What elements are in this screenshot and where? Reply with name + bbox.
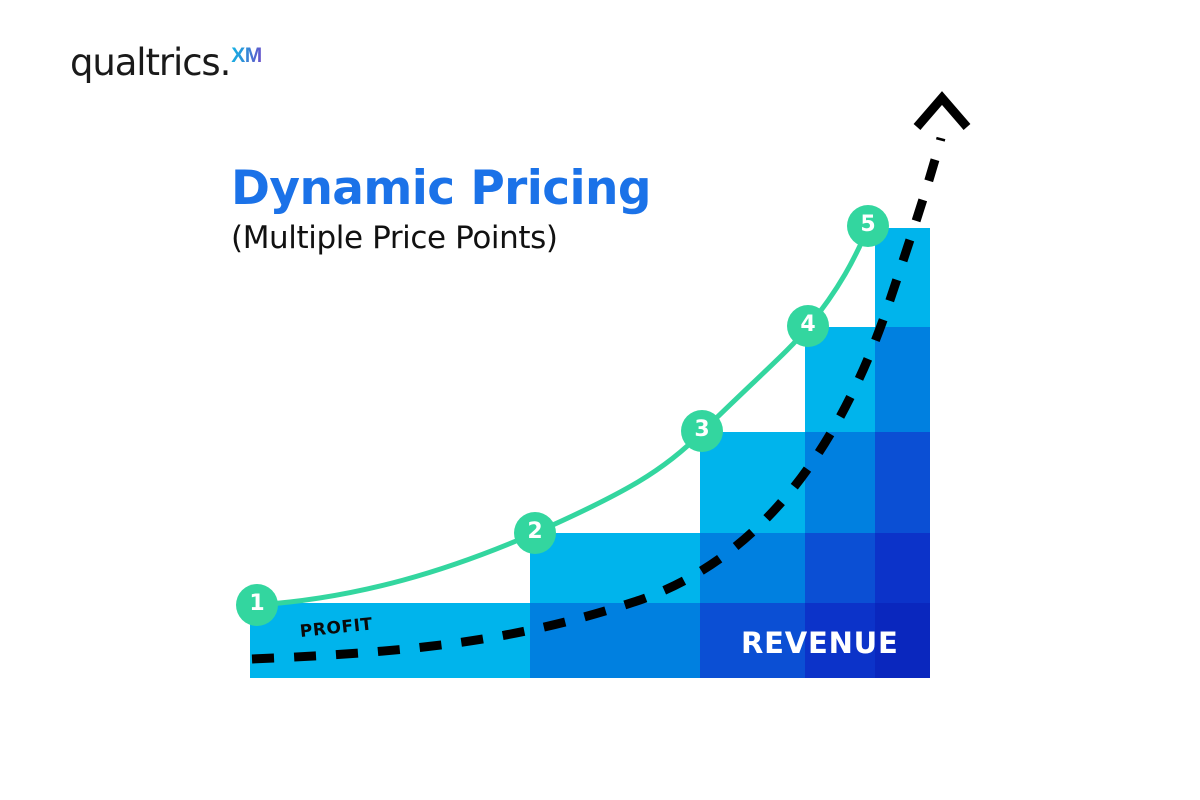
price-point-marker-3[interactable]: 3 — [681, 410, 723, 452]
price-point-marker-2[interactable]: 2 — [514, 512, 556, 554]
marker-label: 3 — [694, 419, 709, 441]
infographic-canvas: qualtrics. XM Dynamic Pricing (Multiple … — [0, 0, 1200, 800]
marker-label: 2 — [527, 521, 542, 543]
revenue-label: REVENUE — [741, 626, 899, 660]
price-point-marker-1[interactable]: 1 — [236, 584, 278, 626]
price-point-marker-5[interactable]: 5 — [847, 205, 889, 247]
profit-curve — [257, 228, 868, 605]
stacked-bar-chart: PROFIT REVENUE 1 2 3 4 5 — [0, 0, 1200, 800]
marker-label: 1 — [249, 593, 264, 615]
marker-label: 5 — [860, 214, 875, 236]
marker-label: 4 — [800, 314, 815, 336]
revenue-curve — [252, 138, 941, 659]
curve-overlay-layer — [0, 0, 1200, 800]
up-arrow-icon — [917, 98, 967, 127]
price-point-marker-4[interactable]: 4 — [787, 305, 829, 347]
